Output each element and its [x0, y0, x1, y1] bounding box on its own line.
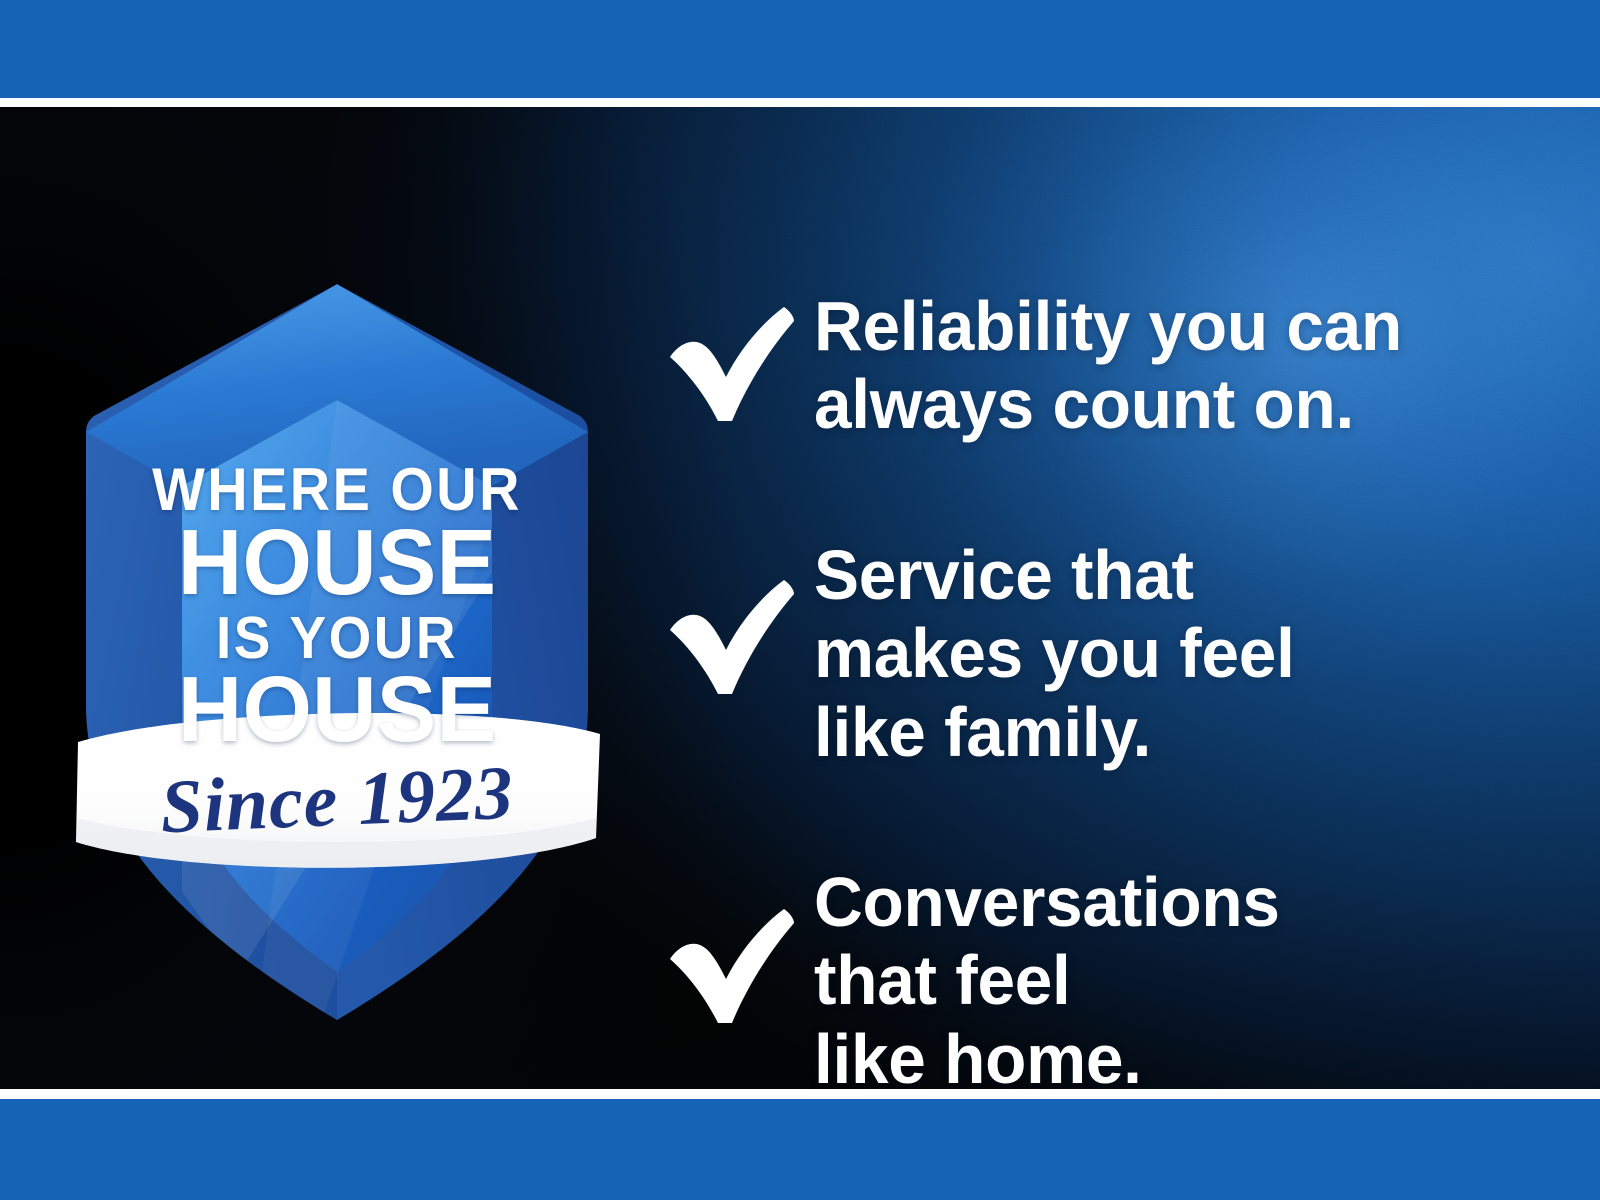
list-item-text: Service that makes you feel like family. — [814, 536, 1499, 771]
list-item-text: Reliability you can always count on. — [814, 287, 1499, 444]
company-badge: WHERE OUR HOUSE IS YOUR HOUSE Since 1923 — [72, 272, 602, 1032]
list-item: Reliability you can always count on. — [664, 287, 1524, 444]
badge-line-house-2: HOUSE — [83, 666, 592, 753]
list-item: Conversations that feel like home. — [664, 863, 1524, 1089]
check-icon — [664, 536, 814, 696]
benefits-list: Reliability you can always count on. Ser… — [664, 287, 1524, 1089]
check-icon — [664, 863, 814, 1025]
list-item: Service that makes you feel like family. — [664, 536, 1524, 771]
list-item-text: Conversations that feel like home. — [814, 863, 1499, 1089]
poster-stage: WHERE OUR HOUSE IS YOUR HOUSE Since 1923… — [0, 107, 1600, 1089]
bottom-brand-bar — [0, 1099, 1600, 1200]
promo-graphic: WHERE OUR HOUSE IS YOUR HOUSE Since 1923… — [0, 0, 1600, 1200]
top-brand-bar — [0, 0, 1600, 98]
check-icon — [664, 287, 814, 423]
badge-line-house-1: HOUSE — [83, 519, 592, 606]
